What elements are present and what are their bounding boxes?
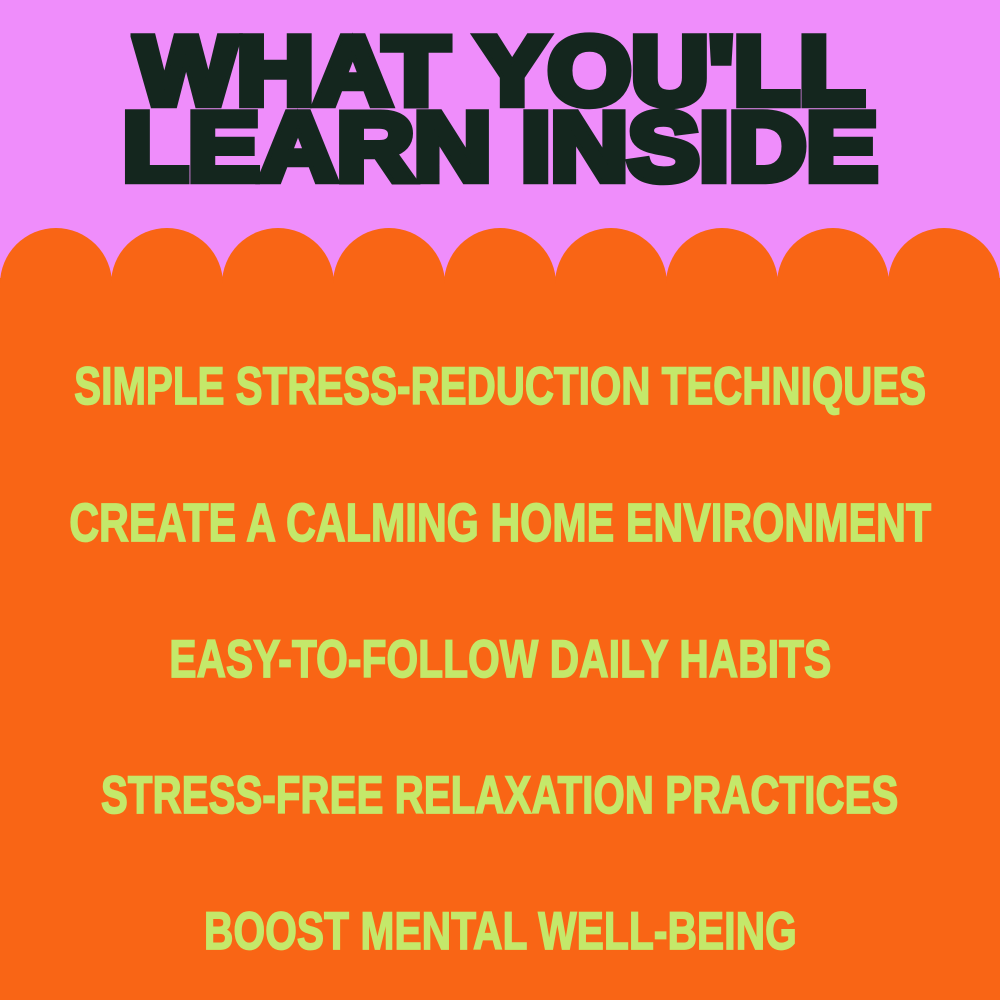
list-item: CREATE A CALMING HOME ENVIRONMENT xyxy=(0,454,1000,590)
benefits-list: SIMPLE STRESS-REDUCTION TECHNIQUES CREAT… xyxy=(0,300,1000,1000)
benefit-label: SIMPLE STRESS-REDUCTION TECHNIQUES xyxy=(74,356,926,417)
promo-poster: WHAT YOU'LL LEARN INSIDE SIMPLE STRESS-R… xyxy=(0,0,1000,1000)
scalloped-divider xyxy=(0,228,1000,280)
page-title-line-2: LEARN INSIDE xyxy=(0,110,1000,187)
benefit-label: STRESS-FREE RELAXATION PRACTICES xyxy=(101,765,898,826)
list-item: STRESS-FREE RELAXATION PRACTICES xyxy=(0,727,1000,863)
list-item: EASY-TO-FOLLOW DAILY HABITS xyxy=(0,591,1000,727)
benefit-label: EASY-TO-FOLLOW DAILY HABITS xyxy=(169,628,831,689)
benefit-label: BOOST MENTAL WELL-BEING xyxy=(204,901,797,962)
page-title: WHAT YOU'LL LEARN INSIDE xyxy=(0,34,1000,183)
benefit-label: CREATE A CALMING HOME ENVIRONMENT xyxy=(69,491,931,553)
list-item: SIMPLE STRESS-REDUCTION TECHNIQUES xyxy=(0,318,1000,454)
list-item: BOOST MENTAL WELL-BEING xyxy=(0,864,1000,1000)
